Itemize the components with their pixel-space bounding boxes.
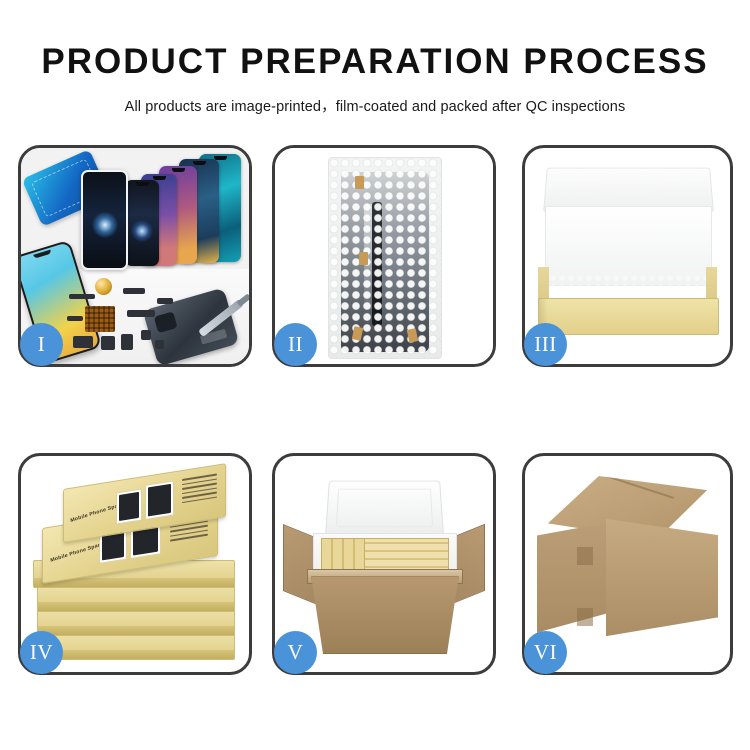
carton-seam <box>582 468 673 499</box>
sim-tray-icon <box>121 334 133 350</box>
step-badge-5: V <box>274 631 317 674</box>
notch-icon <box>172 168 185 172</box>
process-step-panel-4[interactable]: Mobile Phone Spare Parts Mobile Phone Sp… <box>18 453 252 675</box>
flex-cable-icon <box>69 294 95 299</box>
screen-protector-icon <box>81 170 128 270</box>
tape-icon <box>359 252 368 265</box>
camera-module-icon <box>73 336 93 348</box>
chip-array-icon <box>85 306 115 332</box>
sealed-carton-icon <box>537 476 718 654</box>
stacked-box-layer <box>37 632 234 660</box>
notch-icon <box>153 176 166 180</box>
battery-connector-icon <box>101 336 115 350</box>
header: PRODUCT PREPARATION PROCESS All products… <box>0 0 750 116</box>
box-edge <box>38 602 233 611</box>
printed-spec-lines <box>182 474 217 514</box>
phone-dark-icon <box>125 180 159 266</box>
tape-icon <box>577 608 593 626</box>
page-title: PRODUCT PREPARATION PROCESS <box>0 44 750 79</box>
connector-icon <box>123 288 145 294</box>
step-badge-2: II <box>274 323 317 366</box>
tape-icon <box>355 176 364 189</box>
stacked-box-layer <box>37 608 234 636</box>
phone-screen-icon <box>147 484 170 516</box>
kraft-box-front <box>538 298 720 335</box>
box-edge <box>38 626 233 635</box>
open-carton-icon <box>283 470 485 660</box>
process-step-panel-6[interactable]: VI <box>522 453 733 675</box>
open-foam-box-icon <box>534 166 721 340</box>
process-step-panel-3[interactable]: III <box>522 145 733 367</box>
step-badge-1: I <box>20 323 63 366</box>
printed-phone-image <box>115 489 141 524</box>
button-icon <box>155 340 164 349</box>
carton-left-face <box>537 522 609 632</box>
box-edge <box>38 650 233 659</box>
process-step-panel-2[interactable]: II <box>272 145 496 367</box>
bubble-wrap-bag-icon <box>328 157 442 359</box>
tape-icon <box>577 547 593 565</box>
speaker-module-icon <box>95 278 112 295</box>
phone-screen-icon <box>118 492 138 520</box>
product-preparation-infographic: PRODUCT PREPARATION PROCESS All products… <box>0 0 750 750</box>
process-step-grid: I II <box>0 145 750 690</box>
bubble-highlight-layer <box>329 158 441 358</box>
page-subtitle: All products are image-printed，film-coat… <box>0 95 750 116</box>
foam-lid-icon <box>325 480 444 536</box>
printed-phone-image <box>144 481 173 520</box>
notch-icon <box>136 182 149 186</box>
step-badge-6: VI <box>524 631 567 674</box>
spare-parts-cluster <box>67 280 191 358</box>
antenna-cable-icon <box>67 316 83 321</box>
carton-right-face <box>606 519 718 636</box>
process-step-panel-1[interactable]: I <box>18 145 252 367</box>
carton-body <box>311 576 458 654</box>
step-badge-4: IV <box>20 631 63 674</box>
flex-cable-icon <box>127 310 155 317</box>
notch-icon <box>193 161 206 165</box>
process-step-panel-5[interactable]: V <box>272 453 496 675</box>
step-badge-3: III <box>524 323 567 366</box>
stacked-box-layer <box>37 584 234 612</box>
vibrator-icon <box>141 330 151 340</box>
gold-contact-icon <box>157 298 173 304</box>
box-stack-icon: Mobile Phone Spare Parts Mobile Phone Sp… <box>29 470 241 662</box>
